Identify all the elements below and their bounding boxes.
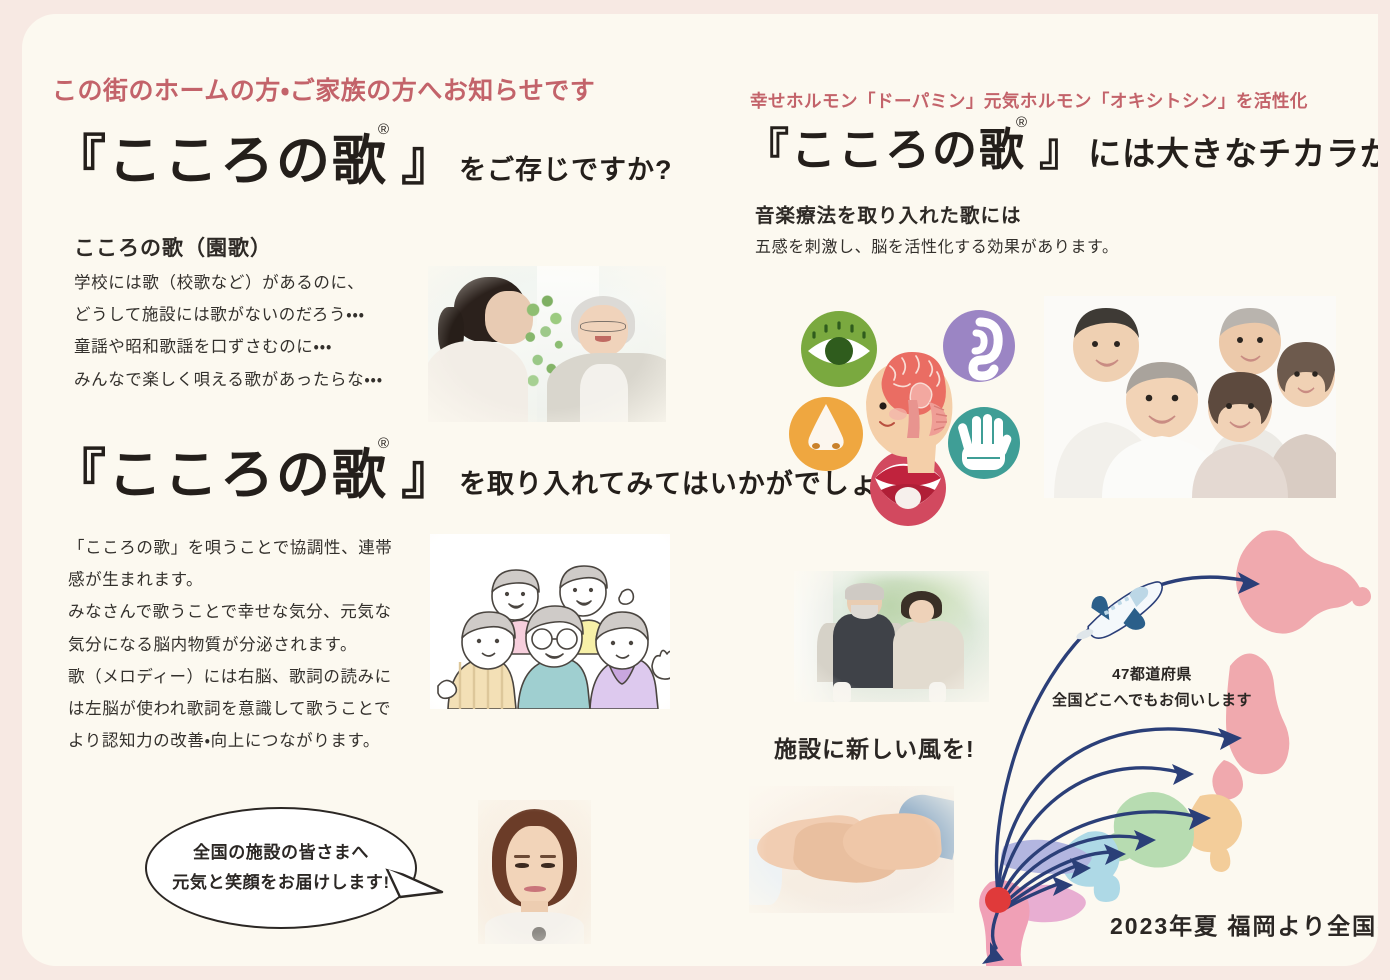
body-line: どうして施設には歌がないのだろう・・・ [74, 299, 383, 331]
right-kicker: 幸せホルモン「ドーパミン」元気ホルモン「オキシトシン」を活性化 [750, 88, 1308, 113]
map-label-line-2: 全国どこへでもお伺いします [1042, 688, 1262, 714]
brand-name-1: 『こころの歌®』 [52, 134, 457, 188]
head-with-brain-icon [866, 352, 952, 473]
holding-hands-photo [749, 786, 954, 913]
hand-icon [948, 407, 1020, 479]
left-body-1: 学校には歌（校歌など）があるのに、 どうして施設には歌がないのだろう・・・ 童謡… [74, 267, 383, 396]
left-title-1-tail: をご存じですか? [459, 148, 673, 187]
nose-icon [789, 397, 863, 471]
registered-mark-1: ® [378, 121, 391, 138]
airplane-icon [1065, 573, 1174, 653]
brochure-sheet: この街のホームの方・ご家族の方へお知らせです 『こころの歌®』 をご存じですか?… [22, 14, 1378, 966]
ear-icon [943, 310, 1015, 382]
right-title: 『こころの歌®』 には大きなチカラがあります [744, 127, 1378, 175]
five-senses-and-brain-illustration [784, 306, 1032, 532]
caregiver-and-elderly-woman-photo [428, 266, 666, 422]
registered-mark-3: ® [1016, 114, 1029, 131]
bubble-line-1: 全国の施設の皆さまへ [193, 838, 369, 868]
map-label-line-1: 47都道府県 [1042, 662, 1262, 688]
bubble-line-2: 元気と笑顔をお届けします! [172, 868, 389, 898]
body-line: みなさんで歌うことで幸せな気分、元気な [68, 596, 392, 628]
body-line: は左脳が使われ歌詞を意識して歌うことで [68, 693, 392, 725]
map-label: 47都道府県 全国どこへでもお伺いします [1042, 662, 1262, 713]
laughing-elderly-couple-photo [794, 571, 989, 702]
body-line: 「こころの歌」を唄うことで協調性、連帯 [68, 532, 392, 564]
right-body: 五感を刺激し、脳を活性化する効果があります。 [755, 232, 1119, 263]
brand-name-3: 『こころの歌®』 [744, 127, 1086, 172]
left-body-2: 「こころの歌」を唄うことで協調性、連帯 感が生まれます。 みなさんで歌うことで幸… [68, 532, 392, 757]
smiling-family-group-photo [1044, 296, 1336, 498]
speech-bubble: 全国の施設の皆さまへ 元気と笑顔をお届けします! [145, 807, 417, 929]
body-line: 感が生まれます。 [68, 564, 392, 596]
body-line: 気分になる脳内物質が分泌されます。 [68, 629, 392, 661]
wind-tagline: 施設に新しい風を! [774, 730, 975, 764]
left-kicker: この街のホームの方・ご家族の方へお知らせです [52, 71, 595, 107]
right-title-tail: には大きなチカラがあります [1088, 127, 1378, 175]
left-title-1: 『こころの歌®』 をご存じですか? [52, 134, 673, 188]
japan-map-with-arrows [962, 514, 1378, 966]
brand-name-2: 『こころの歌®』 [52, 448, 457, 502]
fukuoka-origin-marker [985, 887, 1011, 913]
body-line: みんなで楽しく唄える歌があったらな・・・ [74, 364, 383, 396]
seniors-svg [430, 534, 670, 709]
woman-portrait-photo [478, 800, 591, 944]
body-line: より認知力の改善・向上につながります。 [68, 725, 392, 757]
eye-icon [801, 311, 877, 387]
family-photo-svg [1044, 296, 1336, 498]
map-tagline: 2023年夏 福岡より全国へ [1110, 907, 1378, 941]
brochure-page: この街のホームの方・ご家族の方へお知らせです 『こころの歌®』 をご存じですか?… [0, 0, 1390, 980]
body-line: 童謡や昭和歌謡を口ずさむのに・・・ [74, 331, 383, 363]
left-subhead-1: こころの歌（園歌） [74, 232, 272, 262]
right-subhead: 音楽療法を取り入れた歌には [755, 199, 1022, 228]
five-smiling-seniors-illustration [430, 534, 670, 709]
body-line: 学校には歌（校歌など）があるのに、 [74, 267, 383, 299]
body-line: 歌（メロディー）には右脳、歌詞の読みに [68, 661, 392, 693]
registered-mark-2: ® [378, 435, 391, 452]
speech-bubble-tail [380, 859, 450, 909]
